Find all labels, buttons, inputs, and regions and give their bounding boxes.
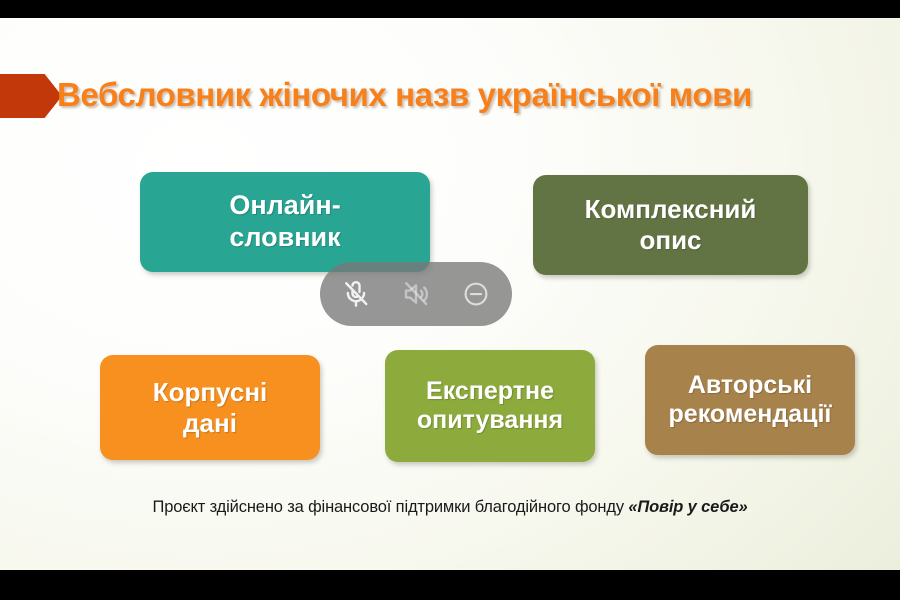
mic-off-icon: [341, 279, 371, 309]
minus-circle-button[interactable]: [454, 272, 498, 316]
call-control-toolbar[interactable]: [320, 262, 512, 326]
slide-title-row: Вебсловник жіночих назв української мови: [0, 66, 900, 126]
footer-fund-name: «Повір у себе»: [628, 498, 747, 516]
slide-footer: Проєкт здійснено за фінансової підтримки…: [0, 498, 900, 517]
diagram-node-corpus-data: Корпуснідані: [100, 355, 320, 460]
diagram-node-author-recommendations: Авторськірекомендації: [645, 345, 855, 455]
diagram-node-label: Корпуснідані: [153, 377, 268, 438]
letterbox-top: [0, 0, 900, 18]
arrow-bullet-icon: [0, 74, 62, 118]
letterbox-bottom: [0, 570, 900, 600]
page-title: Вебсловник жіночих назв української мови: [57, 66, 897, 124]
diagram-node-online-dictionary: Онлайн-словник: [140, 172, 430, 272]
diagram-node-label: Експертнеопитування: [417, 377, 563, 436]
speaker-off-button[interactable]: [394, 272, 438, 316]
mic-off-button[interactable]: [334, 272, 378, 316]
diagram-node-label: Комплекснийопис: [585, 194, 757, 255]
presentation-slide: Вебсловник жіночих назв української мови…: [0, 18, 900, 570]
video-player-screen: Вебсловник жіночих назв української мови…: [0, 0, 900, 600]
diagram-node-label: Авторськірекомендації: [669, 371, 832, 430]
diagram-node-complex-description: Комплекснийопис: [533, 175, 808, 275]
diagram-node-label: Онлайн-словник: [229, 190, 340, 254]
minus-circle-icon: [461, 279, 491, 309]
footer-text: Проєкт здійснено за фінансової підтримки…: [153, 498, 629, 516]
diagram-node-expert-survey: Експертнеопитування: [385, 350, 595, 462]
speaker-off-icon: [401, 279, 431, 309]
